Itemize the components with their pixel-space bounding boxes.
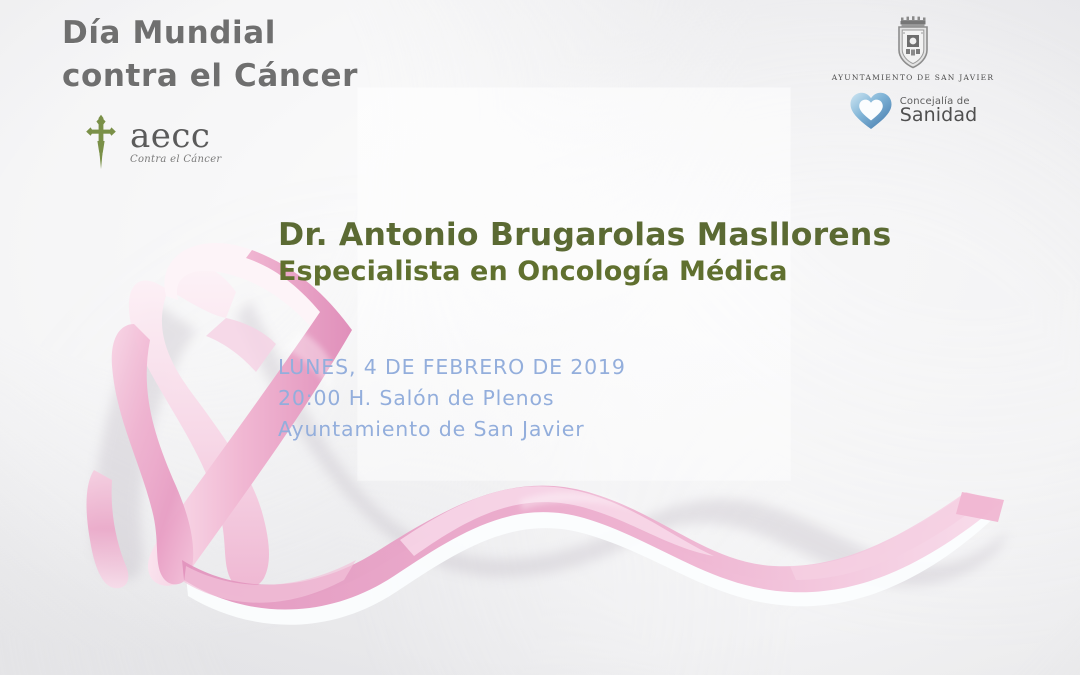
crest-caption: AYUNTAMIENTO DE SAN JAVIER bbox=[832, 73, 995, 82]
page-title: Día Mundial contra el Cáncer bbox=[62, 12, 358, 98]
aecc-tagline: Contra el Cáncer bbox=[130, 154, 222, 165]
poster-canvas: Día Mundial contra el Cáncer aecc Contra… bbox=[0, 0, 1080, 675]
event-date: LUNES, 4 DE FEBRERO DE 2019 bbox=[278, 352, 626, 383]
event-time-place: 20:00 H. Salón de Plenos bbox=[278, 383, 626, 414]
speaker-block: Dr. Antonio Brugarolas Masllorens Especi… bbox=[278, 218, 891, 288]
event-venue: Ayuntamiento de San Javier bbox=[278, 414, 626, 445]
sanidad-label: Sanidad bbox=[900, 106, 978, 125]
event-details: LUNES, 4 DE FEBRERO DE 2019 20:00 H. Sal… bbox=[278, 352, 626, 445]
aecc-logo: aecc Contra el Cáncer bbox=[84, 114, 222, 170]
santiago-cross-icon bbox=[84, 114, 118, 170]
aecc-wordmark: aecc Contra el Cáncer bbox=[130, 119, 222, 165]
heart-icon bbox=[849, 91, 893, 131]
sanidad-wordmark: Concejalía de Sanidad bbox=[900, 97, 978, 125]
speaker-role: Especialista en Oncología Médica bbox=[278, 256, 891, 288]
speaker-name: Dr. Antonio Brugarolas Masllorens bbox=[278, 218, 891, 253]
concejalia-sanidad-logo: Concejalía de Sanidad bbox=[849, 91, 978, 131]
aecc-word: aecc bbox=[130, 121, 222, 152]
institutional-logos: AYUNTAMIENTO DE SAN JAVIER Concejalía de… bbox=[818, 14, 1008, 131]
san-javier-coat-of-arms-icon bbox=[890, 14, 936, 70]
